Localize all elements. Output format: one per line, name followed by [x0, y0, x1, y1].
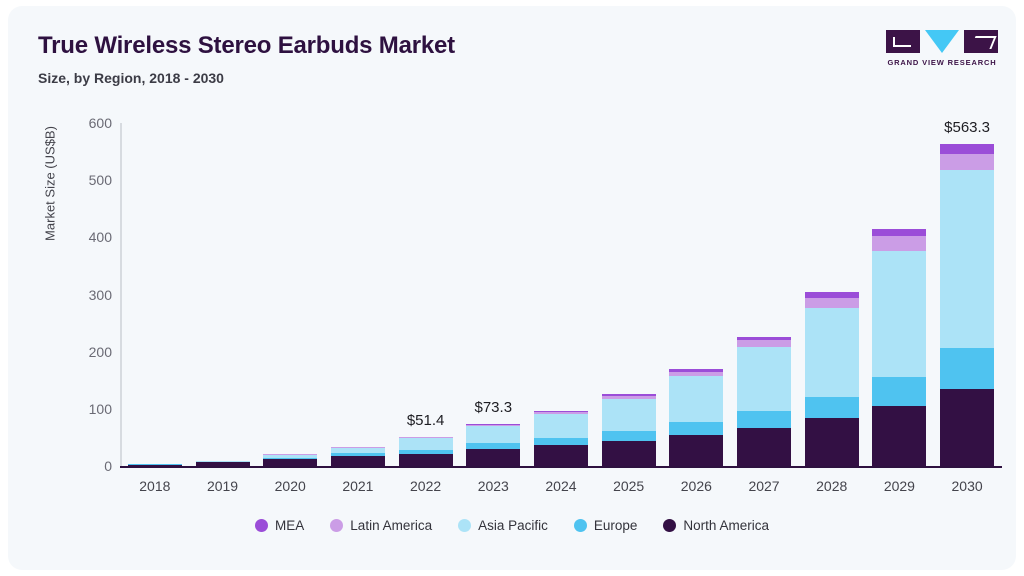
legend-item-asia-pacific[interactable]: Asia Pacific	[458, 518, 548, 533]
x-axis-tick-2027: 2027	[730, 478, 798, 504]
bar-stack-2027	[737, 337, 791, 466]
legend-swatch-icon	[663, 519, 676, 532]
bar-segment-2029-north-america[interactable]	[872, 406, 926, 466]
bar-segment-2019-north-america[interactable]	[196, 462, 250, 466]
bar-segment-2027-latin-america[interactable]	[737, 340, 791, 347]
bar-column-2019[interactable]	[189, 123, 257, 466]
page-title: True Wireless Stereo Earbuds Market	[38, 32, 455, 60]
x-axis-tick-2030: 2030	[933, 478, 1001, 504]
bar-column-2025[interactable]	[595, 123, 663, 466]
bar-segment-2020-north-america[interactable]	[263, 459, 317, 466]
bar-segment-2030-latin-america[interactable]	[940, 154, 994, 170]
x-axis-tick-2021: 2021	[324, 478, 392, 504]
legend-swatch-icon	[574, 519, 587, 532]
bar-segment-2025-asia-pacific[interactable]	[602, 399, 656, 431]
logo-left-box-icon	[886, 30, 920, 53]
bar-segment-2025-europe[interactable]	[602, 431, 656, 441]
bar-column-2029[interactable]	[866, 123, 934, 466]
bar-stack-2023	[466, 424, 520, 466]
legend-label: Europe	[594, 518, 638, 533]
bar-column-2030[interactable]: $563.3	[933, 123, 1001, 466]
bar-column-2027[interactable]	[730, 123, 798, 466]
legend-label: Latin America	[350, 518, 432, 533]
y-axis-tick-0: 0	[64, 458, 112, 474]
bar-segment-2024-europe[interactable]	[534, 438, 588, 446]
legend-item-mea[interactable]: MEA	[255, 518, 304, 533]
x-axis-tick-2019: 2019	[189, 478, 257, 504]
plot-area: $51.4$73.3$563.3	[121, 123, 1001, 466]
bar-column-2020[interactable]	[256, 123, 324, 466]
bar-stack-2025	[602, 394, 656, 466]
bar-segment-2021-north-america[interactable]	[331, 456, 385, 466]
bar-segment-2028-asia-pacific[interactable]	[805, 308, 859, 397]
bar-value-label-2030: $563.3	[907, 119, 1024, 136]
y-axis-tick-400: 400	[64, 229, 112, 245]
bar-stack-2022	[399, 437, 453, 466]
bar-segment-2022-asia-pacific[interactable]	[399, 438, 453, 449]
bar-segment-2022-north-america[interactable]	[399, 454, 453, 466]
bar-segment-2028-latin-america[interactable]	[805, 298, 859, 308]
bar-column-2018[interactable]	[121, 123, 189, 466]
legend-label: North America	[683, 518, 769, 533]
logo-marks	[886, 30, 998, 53]
bar-segment-2029-europe[interactable]	[872, 377, 926, 406]
bar-column-2028[interactable]	[798, 123, 866, 466]
bar-segment-2030-north-america[interactable]	[940, 389, 994, 466]
chart-card: True Wireless Stereo Earbuds Market Size…	[8, 6, 1016, 570]
y-axis-tick-100: 100	[64, 401, 112, 417]
bar-segment-2028-north-america[interactable]	[805, 418, 859, 466]
bar-stack-2029	[872, 229, 926, 466]
legend-item-europe[interactable]: Europe	[574, 518, 638, 533]
bar-stack-2024	[534, 411, 588, 466]
bar-stack-2030	[940, 144, 994, 466]
bar-segment-2028-europe[interactable]	[805, 397, 859, 418]
bar-stack-2019	[196, 461, 250, 466]
legend-label: Asia Pacific	[478, 518, 548, 533]
y-axis-tick-200: 200	[64, 344, 112, 360]
bar-segment-2024-asia-pacific[interactable]	[534, 414, 588, 437]
x-axis-tick-2026: 2026	[663, 478, 731, 504]
bar-segment-2030-europe[interactable]	[940, 348, 994, 389]
bar-stack-2020	[263, 454, 317, 466]
x-axis-tick-2022: 2022	[392, 478, 460, 504]
bar-segment-2030-mea[interactable]	[940, 144, 994, 154]
legend-item-latin-america[interactable]: Latin America	[330, 518, 432, 533]
legend-swatch-icon	[458, 519, 471, 532]
bar-segment-2026-north-america[interactable]	[669, 435, 723, 466]
x-axis-tick-2023: 2023	[459, 478, 527, 504]
bar-segment-2024-north-america[interactable]	[534, 445, 588, 466]
logo-text: GRAND VIEW RESEARCH	[886, 58, 998, 67]
bar-segment-2018-north-america[interactable]	[128, 465, 182, 466]
bar-segment-2025-north-america[interactable]	[602, 441, 656, 466]
x-axis-tick-2018: 2018	[121, 478, 189, 504]
logo-triangle-icon	[925, 30, 959, 53]
logo-right-box-icon	[964, 30, 998, 53]
bar-segment-2029-latin-america[interactable]	[872, 236, 926, 250]
bar-stack-2021	[331, 447, 385, 466]
bar-segment-2030-asia-pacific[interactable]	[940, 170, 994, 347]
bar-stack-2026	[669, 369, 723, 466]
y-axis-tick-500: 500	[64, 172, 112, 188]
bar-segment-2027-north-america[interactable]	[737, 428, 791, 466]
bar-column-2026[interactable]	[663, 123, 731, 466]
bar-group: $51.4$73.3$563.3	[121, 123, 1001, 466]
bar-column-2023[interactable]: $73.3	[459, 123, 527, 466]
chart-subtitle: Size, by Region, 2018 - 2030	[38, 70, 224, 86]
grand-view-research-logo: GRAND VIEW RESEARCH	[886, 30, 998, 72]
y-axis-tick-300: 300	[64, 287, 112, 303]
legend-swatch-icon	[330, 519, 343, 532]
bar-segment-2027-asia-pacific[interactable]	[737, 347, 791, 412]
x-axis-tick-2029: 2029	[866, 478, 934, 504]
x-axis-tick-2024: 2024	[527, 478, 595, 504]
legend-item-north-america[interactable]: North America	[663, 518, 769, 533]
x-axis-line	[120, 466, 1002, 468]
bar-column-2024[interactable]	[527, 123, 595, 466]
bar-segment-2023-asia-pacific[interactable]	[466, 426, 520, 443]
bar-segment-2029-asia-pacific[interactable]	[872, 251, 926, 378]
bar-stack-2028	[805, 292, 859, 466]
legend-label: MEA	[275, 518, 304, 533]
y-axis-tick-600: 600	[64, 115, 112, 131]
y-axis-ticks: 0100200300400500600	[54, 123, 112, 466]
bar-segment-2029-mea[interactable]	[872, 229, 926, 237]
bar-segment-2026-europe[interactable]	[669, 422, 723, 435]
bar-segment-2027-europe[interactable]	[737, 411, 791, 427]
x-axis-tick-2025: 2025	[595, 478, 663, 504]
x-axis-tick-2028: 2028	[798, 478, 866, 504]
x-axis-ticks: 2018201920202021202220232024202520262027…	[121, 478, 1001, 504]
chart-legend: MEALatin AmericaAsia PacificEuropeNorth …	[8, 518, 1016, 533]
x-axis-tick-2020: 2020	[256, 478, 324, 504]
bar-segment-2023-north-america[interactable]	[466, 449, 520, 466]
bar-segment-2026-asia-pacific[interactable]	[669, 376, 723, 422]
legend-swatch-icon	[255, 519, 268, 532]
bar-stack-2018	[128, 464, 182, 466]
